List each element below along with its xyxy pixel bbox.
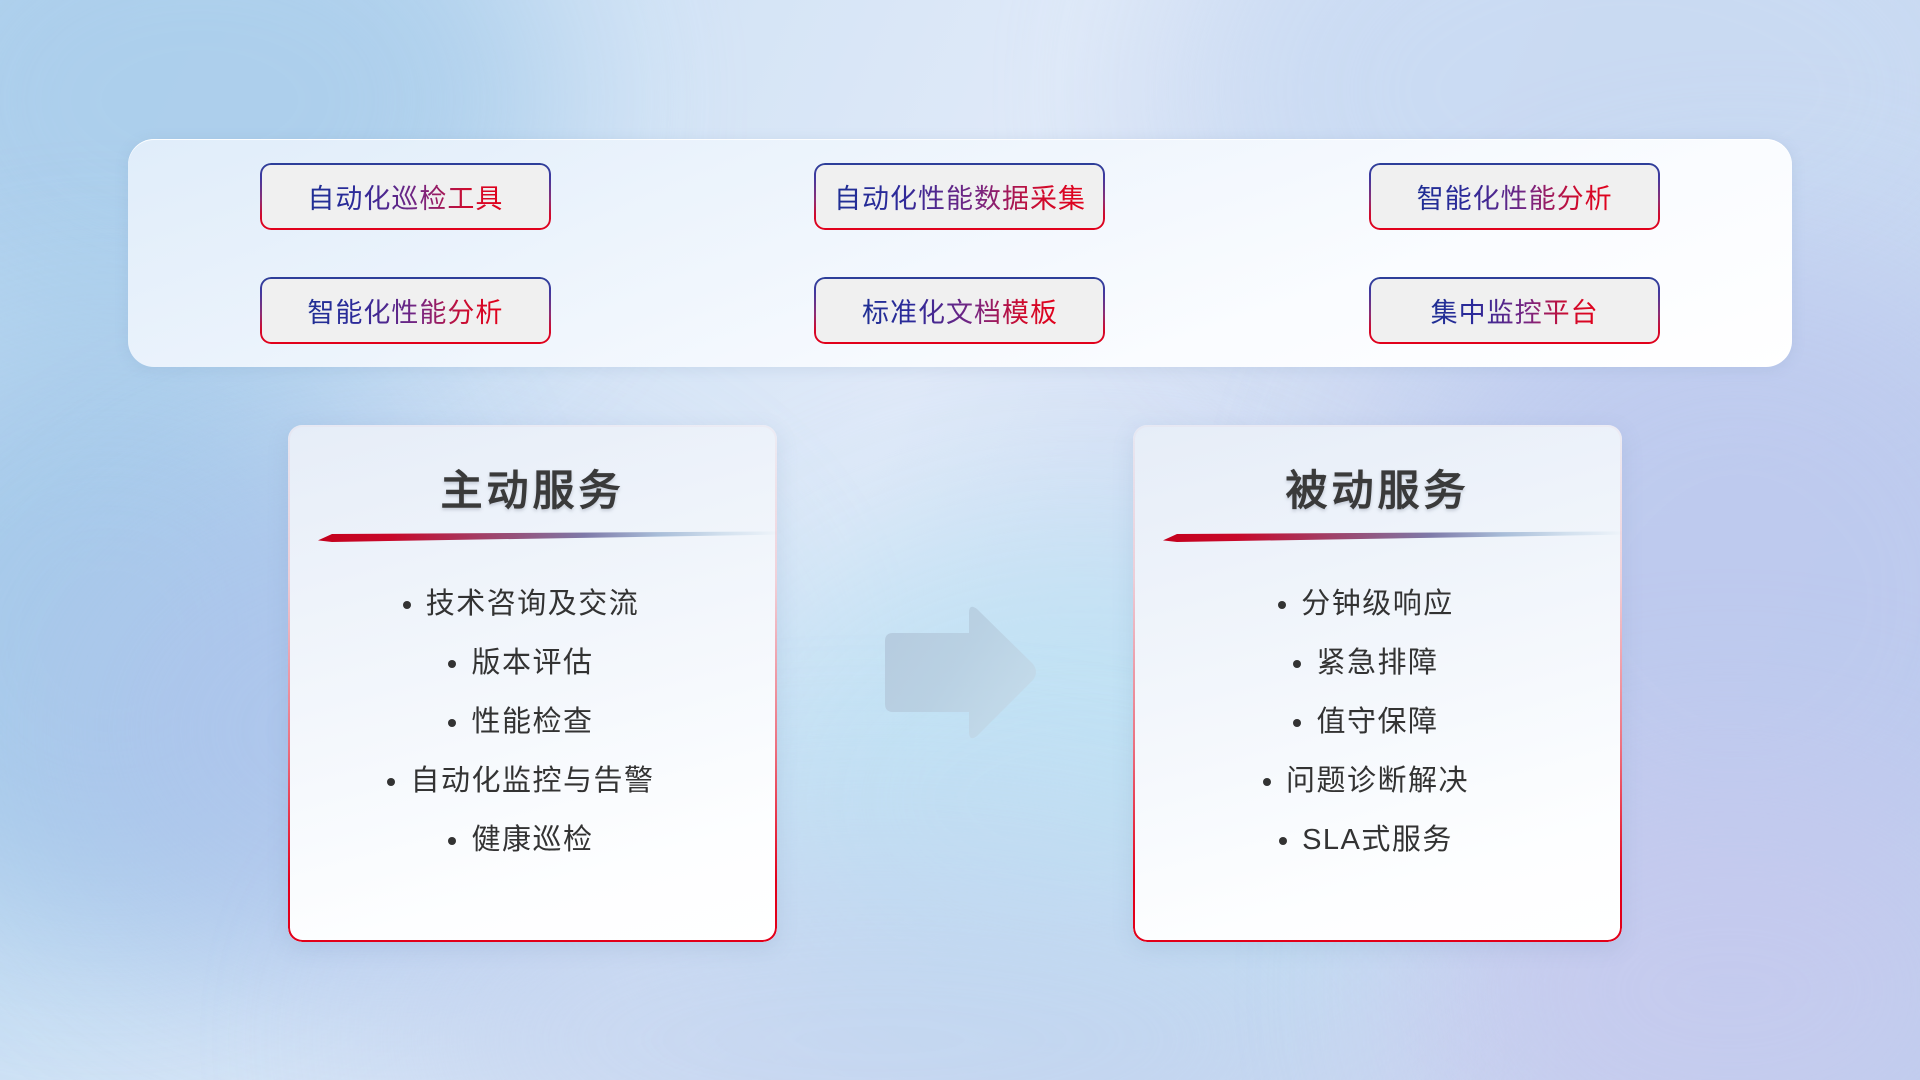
capability-chips-panel: 自动化巡检工具 自动化性能数据采集 智能化性能分析 智能化性能分析 标准化文档模… [128, 139, 1792, 367]
card-title-divider [1163, 531, 1622, 542]
service-card-title: 被动服务 [1133, 457, 1622, 518]
service-list-item[interactable]: 分钟级响应 [1301, 575, 1454, 634]
arrow-right-icon [883, 603, 1037, 742]
service-list-item[interactable]: 问题诊断解决 [1286, 752, 1469, 811]
capability-chip[interactable]: 智能化性能分析 [260, 277, 551, 344]
capability-chip-grid: 自动化巡检工具 自动化性能数据采集 智能化性能分析 智能化性能分析 标准化文档模… [128, 139, 1792, 367]
capability-chip-label: 标准化文档模板 [862, 291, 1058, 330]
service-list-item[interactable]: 性能检查 [471, 693, 593, 752]
capability-chip[interactable]: 集中监控平台 [1369, 277, 1660, 344]
service-list-item[interactable]: 技术咨询及交流 [426, 575, 640, 634]
service-list-item[interactable]: 值守保障 [1316, 693, 1438, 752]
card-title-divider [318, 531, 777, 542]
capability-chip[interactable]: 自动化性能数据采集 [814, 163, 1105, 230]
service-card-title: 主动服务 [288, 457, 777, 518]
capability-chip[interactable]: 自动化巡检工具 [260, 163, 551, 230]
capability-chip[interactable]: 智能化性能分析 [1369, 163, 1660, 230]
capability-chip-label: 智能化性能分析 [1417, 177, 1613, 216]
service-card-passive: 被动服务 分钟级响应 紧急排障 值守保障 问题诊断解决 SLA式服务 [1133, 425, 1622, 942]
capability-chip-label: 智能化性能分析 [307, 291, 503, 330]
service-list-item[interactable]: 版本评估 [471, 634, 593, 693]
service-card-item-list: 技术咨询及交流 版本评估 性能检查 自动化监控与告警 健康巡检 [288, 575, 777, 870]
service-card-active: 主动服务 技术咨询及交流 版本评估 性能检查 自动化监控与告警 健康巡检 [288, 425, 777, 942]
service-list-item[interactable]: 自动化监控与告警 [410, 752, 654, 811]
capability-chip-label: 自动化性能数据采集 [834, 177, 1086, 216]
capability-chip[interactable]: 标准化文档模板 [814, 277, 1105, 344]
service-list-item[interactable]: 健康巡检 [471, 811, 593, 870]
service-list-item[interactable]: SLA式服务 [1302, 811, 1453, 870]
capability-chip-label: 自动化巡检工具 [307, 177, 503, 216]
service-card-item-list: 分钟级响应 紧急排障 值守保障 问题诊断解决 SLA式服务 [1133, 575, 1622, 870]
service-list-item[interactable]: 紧急排障 [1316, 634, 1438, 693]
capability-chip-label: 集中监控平台 [1431, 291, 1599, 330]
